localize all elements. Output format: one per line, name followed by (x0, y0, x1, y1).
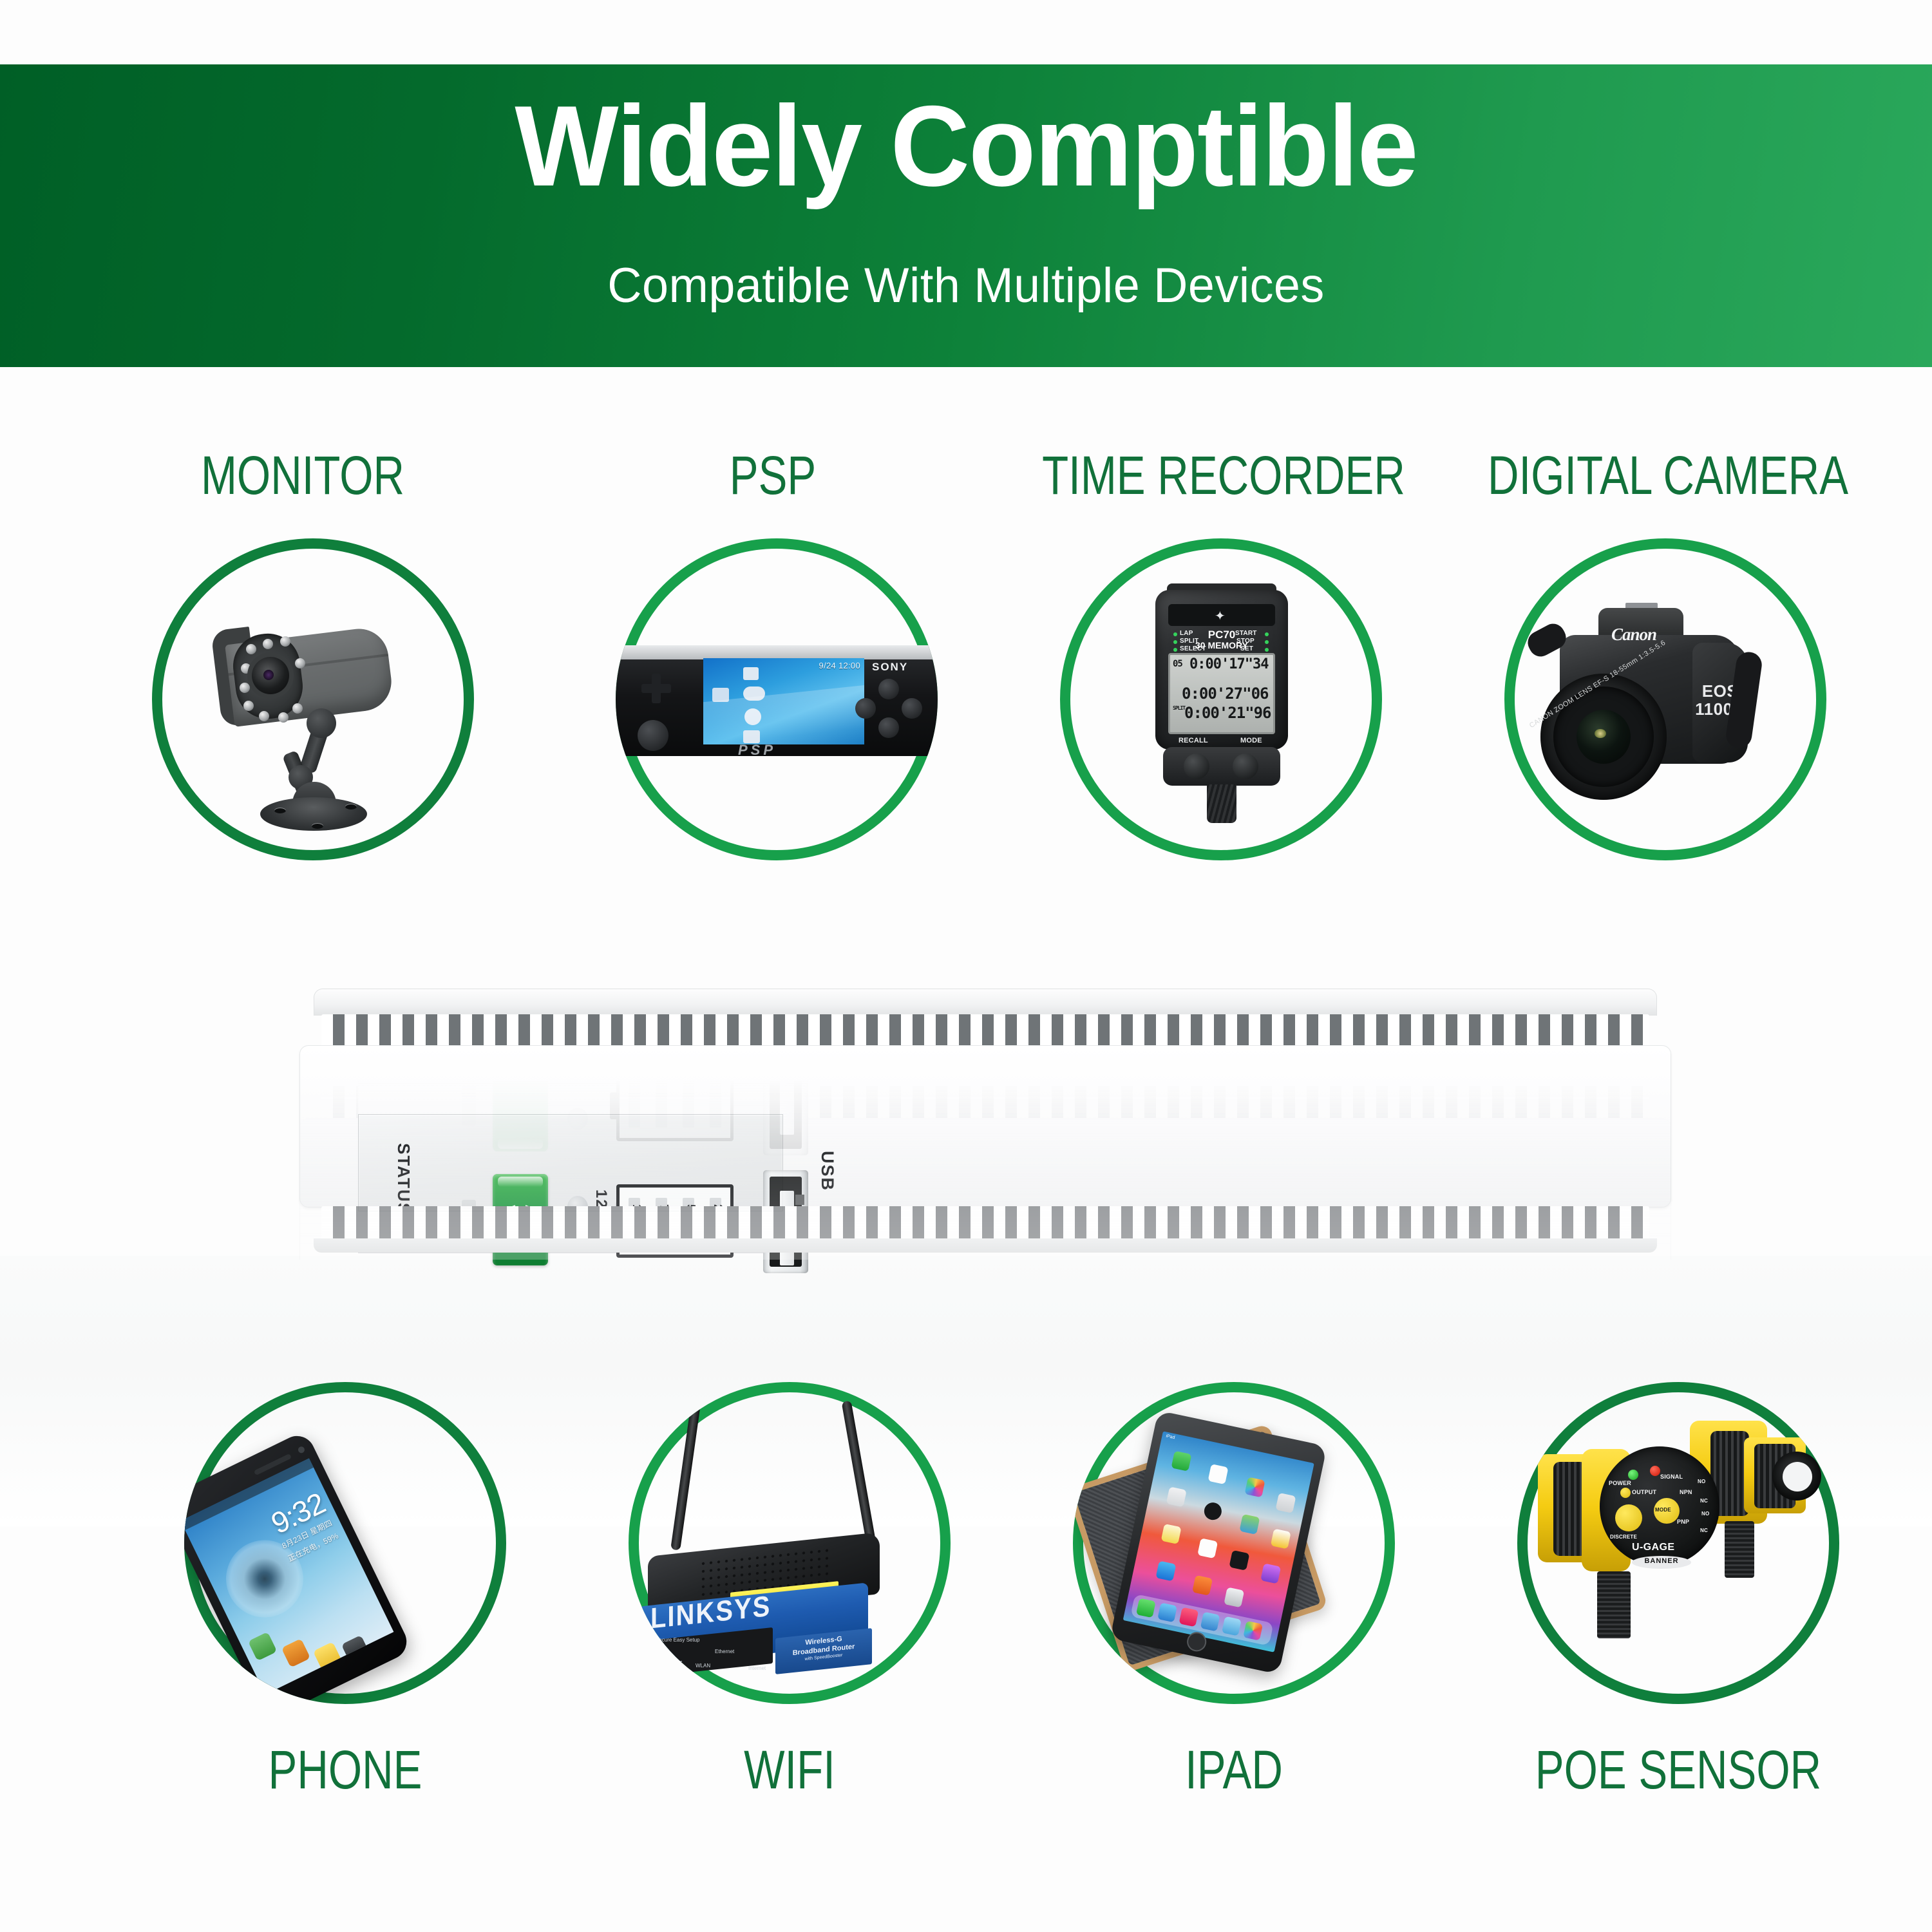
stopwatch-icon: ✦ LAP SPLIT SELECT START STOP SET PC70 3… (1060, 538, 1382, 860)
poe-discrete-label: DISCRETE (1610, 1534, 1637, 1540)
ups-top-vents (321, 1014, 1649, 1046)
label-phone: PHONE (134, 1739, 556, 1801)
ups-device: STATUS 12V 9V 100% 75% 50% (299, 989, 1671, 1259)
ipad-dock-messages[interactable] (1136, 1598, 1156, 1618)
poe-led-output-label: OUTPUT (1632, 1489, 1656, 1495)
poe-no-label-npn: NO (1698, 1479, 1705, 1484)
ipad-dock-photos[interactable] (1243, 1621, 1263, 1641)
ipad-app-stocks[interactable] (1229, 1550, 1249, 1571)
phone-app-messages[interactable] (313, 1642, 342, 1671)
poe-mode-label: MODE (1655, 1507, 1671, 1513)
ipad-dock-safari[interactable] (1157, 1602, 1177, 1622)
ipad-app-itunes[interactable] (1260, 1563, 1281, 1584)
router-setup-label: Secure Easy Setup (656, 1637, 699, 1643)
psp-wordmark: PSP (738, 742, 776, 759)
ipad-app-books[interactable] (1192, 1575, 1213, 1596)
stopwatch-push-button-right[interactable] (1233, 753, 1258, 779)
stopwatch-lap-number: 05 (1173, 659, 1182, 669)
poe-no-label-pnp: NO (1701, 1511, 1709, 1517)
stopwatch-recall-button[interactable]: RECALL (1179, 737, 1208, 744)
phone-app-camera[interactable] (341, 1635, 370, 1664)
label-time-recorder: TIME RECORDER (1012, 444, 1435, 507)
poe-discrete-button[interactable] (1615, 1504, 1642, 1531)
ipad-status-bar: iPad (1166, 1434, 1175, 1441)
label-psp: PSP (562, 444, 984, 507)
label-wifi: WIFI (578, 1739, 1001, 1801)
wireless-router-icon: Wireless-G 2.4GHz LINKSYS Secure Easy Se… (629, 1382, 951, 1704)
ipad-dock-files[interactable] (1222, 1616, 1242, 1636)
stopwatch-lcd-line3: 0:00'21"96 (1184, 704, 1271, 722)
ipad-app-camera[interactable] (1275, 1493, 1296, 1513)
ipad-app-notes[interactable] (1161, 1524, 1182, 1544)
psp-screen-time: 9/24 12:00 (819, 661, 860, 670)
router-led-wlan: WLAN (696, 1663, 710, 1669)
ipad-app-contacts[interactable] (1166, 1486, 1187, 1507)
stopwatch-lcd-line1: 0:00'17"34 (1189, 656, 1268, 672)
ipad-dock-music[interactable] (1179, 1607, 1198, 1627)
dslr-brand: Canon (1586, 625, 1682, 645)
ups-bottom-vents (321, 1206, 1649, 1240)
tablet-icon: iPad (1073, 1382, 1395, 1704)
stopwatch-model: PC70 (1155, 629, 1288, 641)
circle-time-recorder: ✦ LAP SPLIT SELECT START STOP SET PC70 3… (1060, 538, 1382, 860)
bottom-label-row: PHONE WIFI IPAD POE SENSOR (0, 1739, 1932, 1810)
label-digital-camera: DIGITAL CAMERA (1457, 444, 1879, 507)
circle-wifi: Wireless-G 2.4GHz LINKSYS Secure Easy Se… (629, 1382, 951, 1704)
router-led-dmz: DMZ (671, 1660, 682, 1666)
stopwatch-mode-button[interactable]: MODE (1240, 737, 1262, 744)
poe-nc-label-npn: NC (1700, 1498, 1708, 1504)
circle-phone: 9:32 8月23日 星期四 正在充电，59% (184, 1382, 506, 1704)
circle-psp: 9/24 12:00 SONY PSP (616, 538, 938, 860)
handheld-console-icon: 9/24 12:00 SONY PSP (616, 538, 938, 860)
ups-usb-label: USB (817, 1151, 837, 1191)
ipad-app-maps[interactable] (1239, 1514, 1260, 1535)
poe-led-power-label: POWER (1609, 1480, 1631, 1486)
smartphone-icon: 9:32 8月23日 星期四 正在充电，59% (184, 1382, 506, 1704)
phone-app-contacts[interactable] (281, 1638, 310, 1667)
ipad-app-reminders[interactable] (1197, 1538, 1218, 1558)
circle-poe-sensor: POWER OUTPUT SIGNAL MODE DISCRETE NPN PN… (1517, 1382, 1839, 1704)
ipad-app-appstore[interactable] (1155, 1561, 1176, 1582)
ipad-app-home[interactable] (1271, 1528, 1291, 1549)
poe-nc-label-pnp: NC (1700, 1528, 1708, 1533)
header-banner: Widely Comptible Compatible With Multipl… (0, 64, 1932, 367)
circle-monitor (152, 538, 474, 860)
poe-npn-label: NPN (1680, 1489, 1692, 1495)
stopwatch-memory: 30 MEMORY (1155, 640, 1288, 650)
ups-front-face: STATUS 12V 9V 100% 75% 50% (299, 1045, 1671, 1207)
ipad-app-clock[interactable] (1202, 1501, 1223, 1522)
ipad-dock-mail[interactable] (1200, 1612, 1220, 1632)
ups-status-label: STATUS (393, 1143, 413, 1215)
industrial-sensor-icon: POWER OUTPUT SIGNAL MODE DISCRETE NPN PN… (1517, 1382, 1839, 1704)
phone-app-phone[interactable] (248, 1632, 277, 1661)
ipad-app-photos[interactable] (1245, 1477, 1265, 1497)
label-poe-sensor: POE SENSOR (1467, 1739, 1889, 1801)
poe-product-name: U-GAGE (1632, 1542, 1674, 1553)
poe-led-signal-label: SIGNAL (1660, 1473, 1683, 1480)
router-led-internet: Internet (748, 1665, 766, 1671)
ipad-app-settings[interactable] (1224, 1587, 1244, 1607)
banner-title: Widely Comptible (39, 89, 1893, 204)
stopwatch-push-button-left[interactable] (1184, 753, 1209, 779)
stopwatch-split-label: SPLIT (1173, 705, 1185, 711)
label-monitor: MONITOR (91, 444, 514, 507)
poe-brand-name: BANNER (1632, 1557, 1691, 1565)
top-label-row: MONITOR PSP TIME RECORDER DIGITAL CAMERA (0, 444, 1932, 515)
banner-subtitle: Compatible With Multiple Devices (29, 258, 1903, 314)
circle-ipad: iPad (1073, 1382, 1395, 1704)
psp-brand: SONY (872, 661, 908, 674)
ipad-app-facetime[interactable] (1171, 1451, 1191, 1472)
router-led-power: Power (643, 1658, 658, 1663)
cctv-camera-icon (152, 538, 474, 860)
stopwatch-lcd-line2: 0:00'27"06 (1182, 685, 1269, 703)
router-led-ethernet: Ethernet (715, 1649, 734, 1654)
infographic-page: Widely Comptible Compatible With Multipl… (0, 0, 1932, 1932)
dslr-camera-icon: Canon EOS 1100D CANON ZOOM LENS EF-S 18-… (1504, 538, 1826, 860)
circle-digital-camera: Canon EOS 1100D CANON ZOOM LENS EF-S 18-… (1504, 538, 1826, 860)
label-ipad: IPAD (1023, 1739, 1445, 1801)
poe-pnp-label: PNP (1677, 1519, 1689, 1525)
ipad-app-calendar[interactable] (1207, 1464, 1228, 1484)
